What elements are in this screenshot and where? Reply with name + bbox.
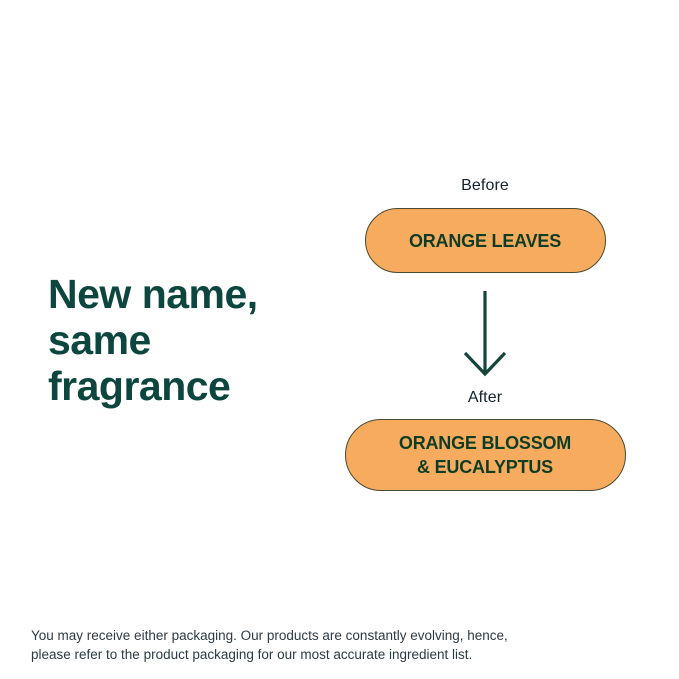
arrow-down-icon — [463, 289, 507, 377]
after-product-name-pill: ORANGE BLOSSOM & EUCALYPTUS — [345, 419, 626, 491]
after-label: After — [468, 388, 502, 408]
before-label: Before — [461, 176, 509, 196]
page-title: New name, same fragrance — [48, 271, 338, 409]
rename-flow: Before ORANGE LEAVES After ORANGE BLOSSO… — [330, 176, 640, 491]
before-product-name-pill: ORANGE LEAVES — [365, 208, 606, 273]
disclaimer-text: You may receive either packaging. Our pr… — [31, 626, 641, 664]
product-rename-infographic: New name, same fragrance Before ORANGE L… — [0, 0, 679, 679]
